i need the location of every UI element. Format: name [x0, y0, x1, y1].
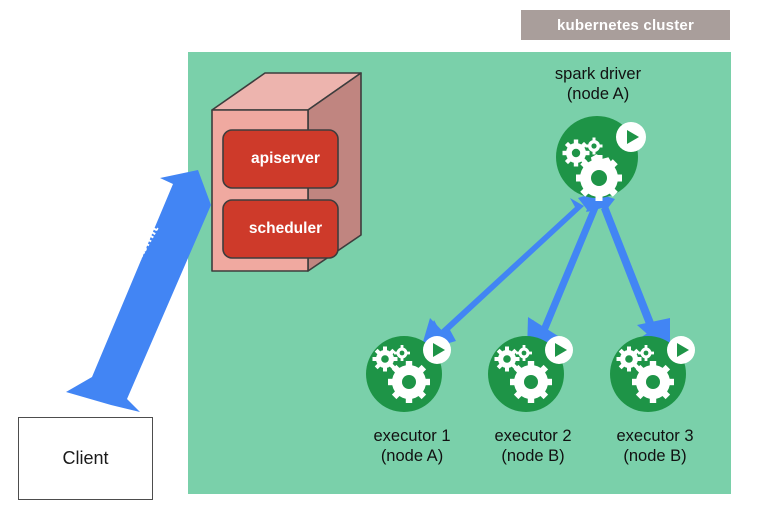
play-icon — [667, 336, 695, 364]
executor-1-node: (node A) — [342, 446, 482, 466]
executor-1-node[interactable] — [366, 336, 451, 412]
executor-3-name: executor 3 — [585, 426, 725, 446]
spark-driver-node: (node A) — [508, 84, 688, 104]
spark-driver-caption: spark driver (node A) — [508, 64, 688, 104]
client-box: Client — [18, 417, 153, 500]
executor-2-name: executor 2 — [463, 426, 603, 446]
play-icon — [616, 122, 646, 152]
executor-3-node[interactable] — [610, 336, 695, 412]
executor-2-node[interactable] — [488, 336, 573, 412]
executor-2-caption: executor 2 (node B) — [463, 426, 603, 466]
apiserver-component-label: apiserver — [226, 150, 345, 168]
driver-executor-links — [420, 192, 670, 354]
client-label: Client — [62, 448, 108, 469]
executor-2-node: (node B) — [463, 446, 603, 466]
cluster-title-badge: kubernetes cluster — [521, 10, 730, 40]
spark-submit-arrow — [66, 170, 211, 412]
control-plane-cube — [212, 73, 361, 271]
scheduler-component-label: scheduler — [226, 220, 345, 238]
executor-1-name: executor 1 — [342, 426, 482, 446]
link-driver-executor-3 — [596, 193, 670, 354]
executor-3-caption: executor 3 (node B) — [585, 426, 725, 466]
executor-1-caption: executor 1 (node A) — [342, 426, 482, 466]
executor-3-node: (node B) — [585, 446, 725, 466]
spark-driver-name: spark driver — [508, 64, 688, 84]
spark-driver-node[interactable] — [556, 116, 646, 201]
play-icon — [423, 336, 451, 364]
play-icon — [545, 336, 573, 364]
